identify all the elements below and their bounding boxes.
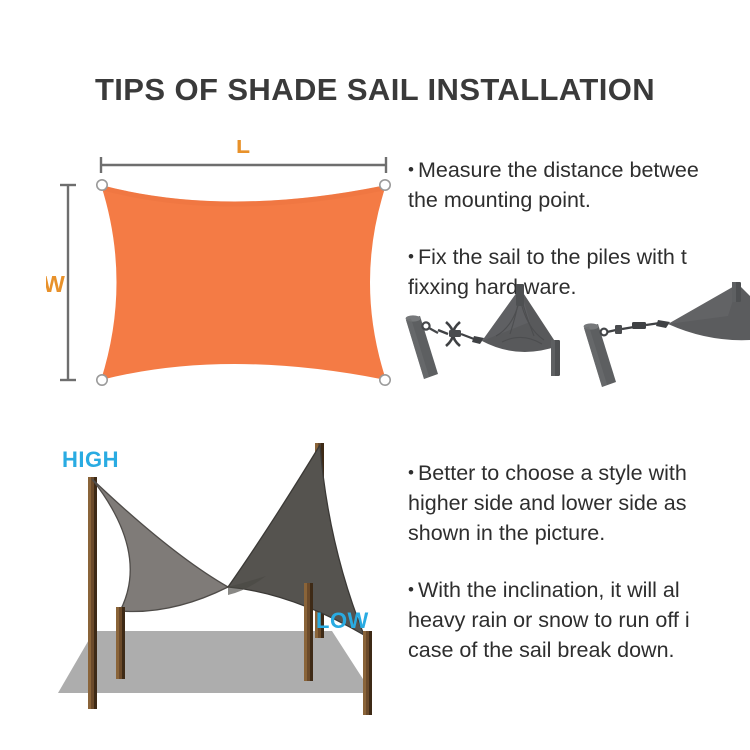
tip-inclination-line-2: heavy rain or snow to run off i — [408, 605, 750, 635]
turnbuckle-icon — [438, 322, 474, 346]
hardware-illustrations — [398, 282, 750, 390]
tips-list-top: •Measure the distance betwee the mountin… — [408, 155, 750, 302]
sail-dark-gray — [228, 445, 364, 635]
tip-inclination: •With the inclination, it will al heavy … — [408, 575, 750, 665]
bullet-dot-icon: • — [408, 580, 414, 599]
tip-style-line-1: •Better to choose a style with — [408, 458, 750, 488]
width-label: W — [46, 271, 65, 297]
tips-list-bottom: •Better to choose a style with higher si… — [408, 458, 750, 665]
hardware-left — [406, 284, 560, 379]
tip-fix-line-1: •Fix the sail to the piles with t — [408, 242, 750, 272]
high-label: HIGH — [62, 447, 119, 473]
high-low-svg — [32, 435, 410, 725]
pole-back-left — [88, 477, 97, 709]
hardware-svg — [398, 282, 750, 390]
low-label: LOW — [316, 608, 369, 634]
tip-inclination-line-1: •With the inclination, it will al — [408, 575, 750, 605]
tip-style: •Better to choose a style with higher si… — [408, 458, 750, 548]
high-low-diagram — [32, 435, 410, 725]
page-title: TIPS OF SHADE SAIL INSTALLATION — [0, 72, 750, 108]
sail-light-gray — [92, 479, 228, 612]
length-dimension-line — [101, 157, 386, 173]
sail-strap-right — [732, 282, 741, 302]
sail-dimensions-diagram: L W — [46, 140, 406, 405]
tip-style-line-2: higher side and lower side as — [408, 488, 750, 518]
pole-low-right — [363, 631, 372, 715]
corner-fitting-icon — [472, 336, 484, 344]
tip-measure-line-2: the mounting point. — [408, 185, 750, 215]
pole-front-mid — [304, 583, 313, 681]
tip-inclination-line-3: case of the sail break down. — [408, 635, 750, 665]
sail-dimensions-svg: L W — [46, 140, 406, 405]
orange-sail-shape — [101, 185, 386, 380]
pole-front-left — [116, 607, 125, 679]
length-label: L — [236, 140, 250, 158]
tip-style-line-3: shown in the picture. — [408, 518, 750, 548]
ground-shadow — [58, 631, 372, 693]
cable-assembly-icon — [601, 320, 670, 335]
infographic-page: TIPS OF SHADE SAIL INSTALLATION — [0, 0, 750, 750]
hardware-right — [584, 282, 750, 387]
bullet-dot-icon: • — [408, 463, 414, 482]
tip-measure-line-1: •Measure the distance betwee — [408, 155, 750, 185]
bullet-dot-icon: • — [408, 160, 414, 179]
tip-measure: •Measure the distance betwee the mountin… — [408, 155, 750, 215]
bullet-dot-icon: • — [408, 247, 414, 266]
